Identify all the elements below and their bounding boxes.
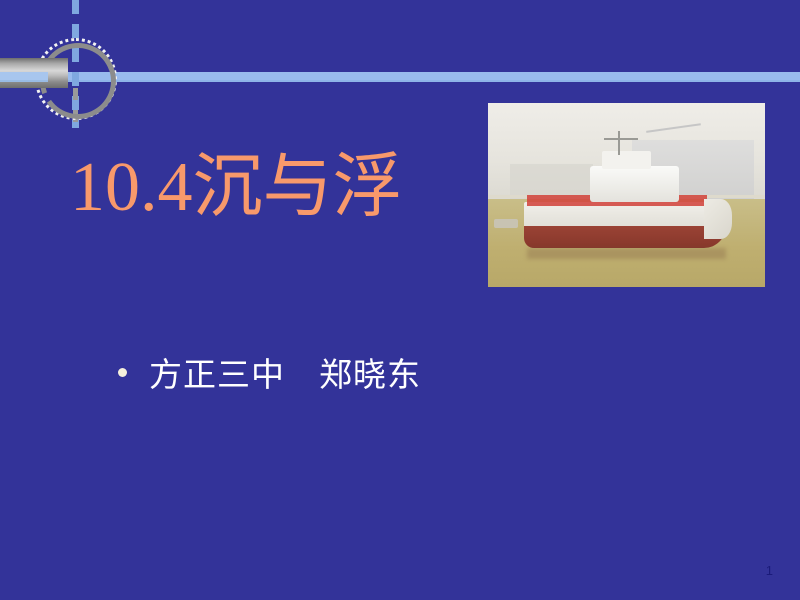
gray-bar-blue-overlay-thin [0,80,48,82]
ship-photo [488,103,765,287]
slide-number: 1 [766,563,773,578]
gray-bar-blue-overlay [0,72,48,80]
photo-ship-hull [524,224,726,248]
photo-ship-bridge [602,151,652,169]
slide-canvas: 10.4沉与浮 方正三中 郑晓东 1 [0,0,800,600]
photo-ship-superstructure [590,166,679,203]
title-cjk: 沉与浮 [193,145,403,227]
photo-ship-mast [618,131,620,155]
header-horizontal-line [0,72,800,80]
subtitle-bullet-row: 方正三中 郑晓东 [118,348,421,396]
subtitle-text: 方正三中 郑晓东 [149,348,421,396]
bullet-icon [118,368,127,377]
photo-small-boat [494,219,519,228]
title-number: 10.4 [70,149,193,226]
header-horizontal-line-thin [0,80,800,82]
photo-ship-mast-arm [604,138,637,140]
photo-water-reflection [527,248,726,259]
page-title: 10.4沉与浮 [70,150,403,225]
photo-skyline-left [510,164,593,199]
photo-ship-bow [704,199,732,239]
